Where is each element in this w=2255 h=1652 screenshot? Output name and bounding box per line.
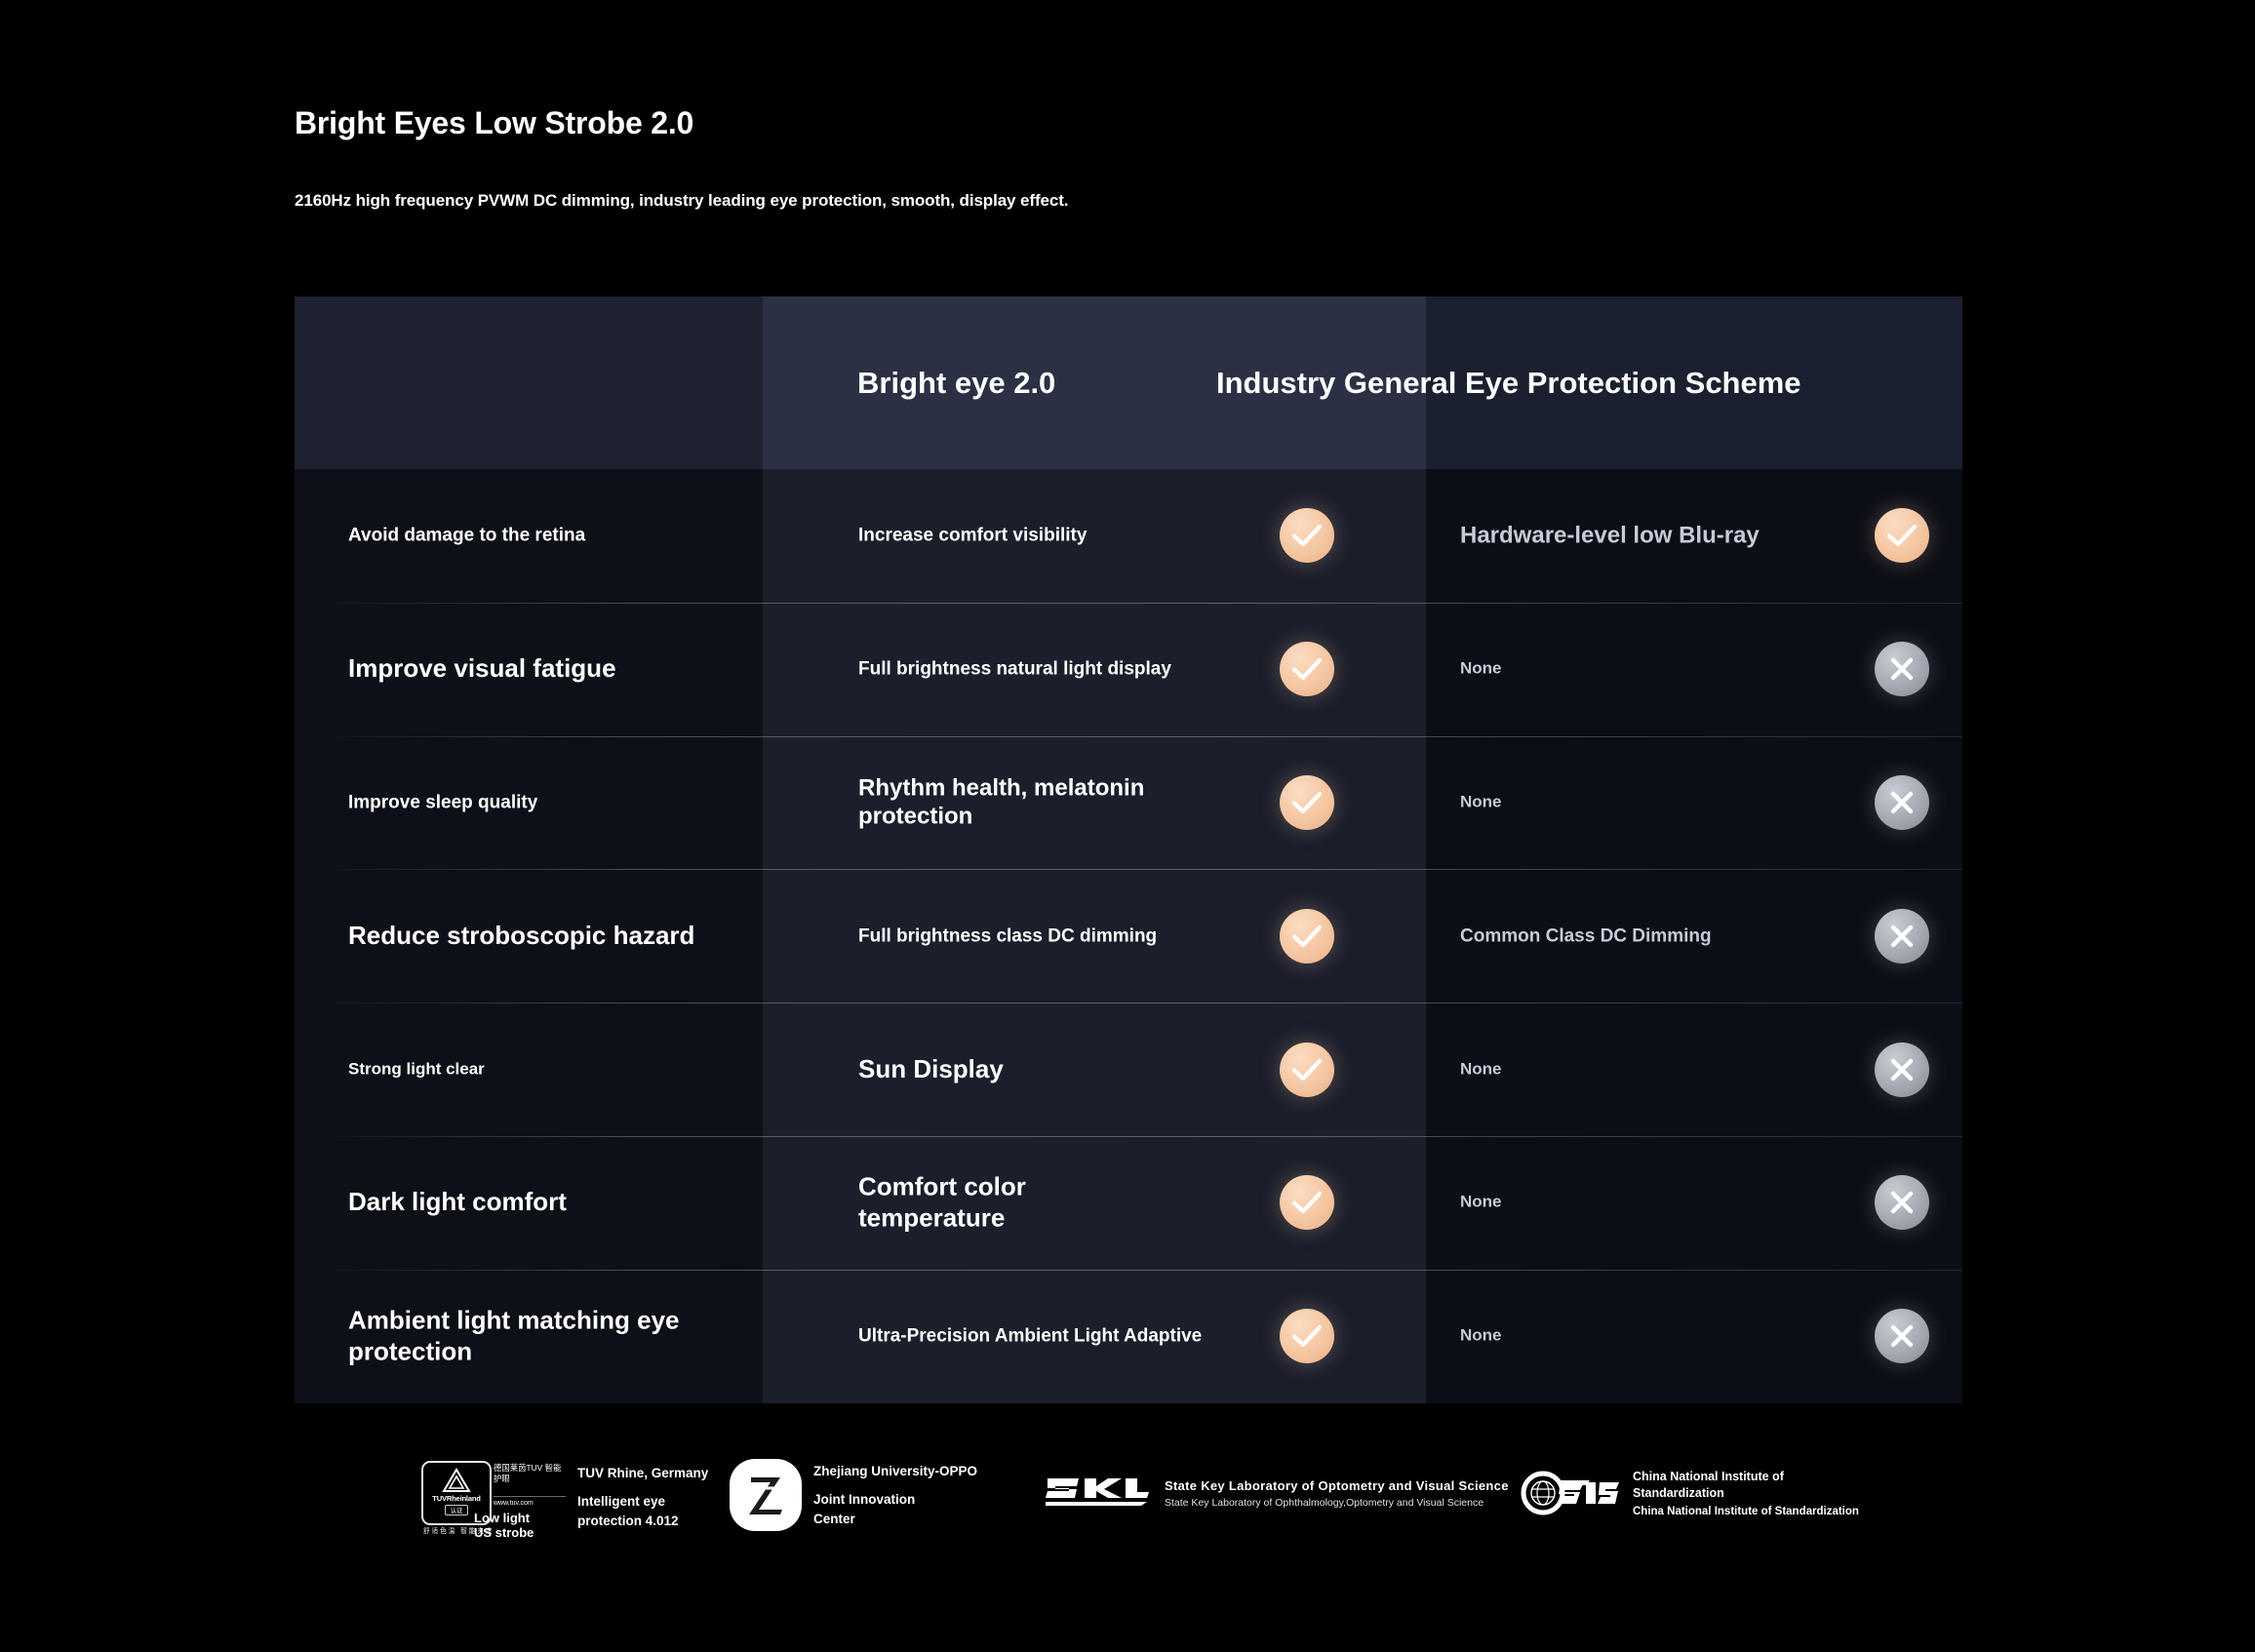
certification-tuv: TUVRheinland 认证 德国莱茵TUV 智能护眼 www.tuv.com… — [421, 1457, 708, 1537]
feature-label: Improve visual fatigue — [348, 653, 738, 685]
cnis-caption-line1: China National Institute of — [1633, 1469, 1859, 1485]
cnis-caption: China National Institute of Standardizat… — [1633, 1469, 1859, 1517]
skl-caption: State Key Laboratory of Optometry and Vi… — [1165, 1478, 1509, 1509]
cross-icon — [1875, 1042, 1929, 1097]
tuv-overlay-line1: Low light — [474, 1512, 534, 1526]
zhejiang-caption-line1: Zhejiang University-OPPO — [813, 1462, 977, 1481]
certification-cnis: China National Institute of Standardizat… — [1520, 1469, 1859, 1517]
ours-value: Increase comfort visibility — [858, 525, 1229, 547]
tuv-cert-cn-label: 认证 — [445, 1505, 469, 1515]
table-body: Avoid damage to the retina Increase comf… — [295, 469, 1962, 1403]
zhejiang-caption-line3: Center — [813, 1510, 977, 1529]
other-value: Common Class DC Dimming — [1460, 924, 1821, 947]
tuv-triangle-icon — [442, 1468, 471, 1493]
cnis-globe-icon — [1520, 1471, 1621, 1515]
other-value: None — [1460, 1059, 1821, 1080]
tuv-side-text: 德国莱茵TUV 智能护眼 www.tuv.com — [494, 1463, 566, 1507]
comparison-table: Bright eye 2.0 Industry General Eye Prot… — [295, 296, 1962, 1403]
ours-value: Rhythm health, melatonin protection — [858, 774, 1229, 832]
other-value: None — [1460, 793, 1821, 813]
ours-value: Full brightness natural light display — [858, 658, 1229, 681]
tuv-cn-text: 德国莱茵TUV 智能护眼 — [494, 1463, 566, 1485]
cross-icon — [1875, 909, 1929, 964]
feature-label: Dark light comfort — [348, 1188, 738, 1219]
cross-icon — [1875, 1175, 1929, 1230]
cnis-caption-line2: Standardization — [1633, 1485, 1859, 1502]
cnis-caption-line3: China National Institute of Standardizat… — [1633, 1506, 1859, 1517]
other-value: None — [1460, 659, 1821, 680]
ours-value: Sun Display — [858, 1054, 1229, 1085]
certification-zhejiang: Zhejiang University-OPPO Joint Innovatio… — [730, 1459, 977, 1531]
column-header-ours: Bright eye 2.0 — [857, 366, 1055, 401]
certification-skl: State Key Laboratory of Optometry and Vi… — [1044, 1473, 1509, 1514]
zhejiang-caption-line2: Joint Innovation — [813, 1490, 977, 1510]
cross-icon — [1875, 775, 1929, 830]
skl-caption-line2: State Key Laboratory of Ophthalmology,Op… — [1165, 1497, 1509, 1509]
check-icon — [1875, 508, 1929, 563]
check-icon — [1280, 1175, 1334, 1230]
table-row: Avoid damage to the retina Increase comf… — [295, 469, 1962, 603]
check-icon — [1280, 909, 1334, 964]
check-icon — [1280, 1309, 1334, 1363]
check-icon — [1280, 508, 1334, 563]
tuv-overlay-line2: US strobe — [474, 1526, 534, 1541]
tuv-rheinland-icon: TUVRheinland 认证 德国莱茵TUV 智能护眼 www.tuv.com… — [421, 1457, 566, 1537]
table-row: Reduce stroboscopic hazard Full brightne… — [295, 869, 1962, 1003]
tuv-url: www.tuv.com — [494, 1496, 566, 1507]
table-row: Dark light comfort Comfort color tempera… — [295, 1136, 1962, 1270]
table-header-row: Bright eye 2.0 Industry General Eye Prot… — [295, 296, 1962, 469]
zhejiang-university-icon — [730, 1459, 802, 1531]
table-row: Improve visual fatigue Full brightness n… — [295, 603, 1962, 736]
ours-value: Ultra-Precision Ambient Light Adaptive — [858, 1325, 1229, 1348]
cross-icon — [1875, 1309, 1929, 1363]
tuv-caption-line2: Intelligent eye — [577, 1492, 708, 1512]
check-icon — [1280, 775, 1334, 830]
feature-label: Improve sleep quality — [348, 791, 738, 813]
feature-label: Avoid damage to the retina — [348, 525, 738, 547]
skl-caption-line1: State Key Laboratory of Optometry and Vi… — [1165, 1478, 1509, 1493]
page-title: Bright Eyes Low Strobe 2.0 — [295, 105, 693, 141]
feature-label: Ambient light matching eye protection — [348, 1305, 699, 1366]
certification-strip: TUVRheinland 认证 德国莱茵TUV 智能护眼 www.tuv.com… — [0, 1449, 2255, 1576]
table-row: Ambient light matching eye protection Ul… — [295, 1270, 1962, 1403]
other-value: None — [1460, 1326, 1821, 1347]
tuv-caption-line1: TUV Rhine, Germany — [577, 1464, 708, 1483]
tuv-caption: TUV Rhine, Germany Intelligent eye prote… — [577, 1464, 708, 1531]
feature-label: Strong light clear — [348, 1059, 738, 1080]
check-icon — [1280, 1042, 1334, 1097]
table-row: Improve sleep quality Rhythm health, mel… — [295, 736, 1962, 870]
tuv-wordmark: TUVRheinland — [432, 1494, 481, 1503]
other-value: None — [1460, 1193, 1821, 1213]
comparison-infographic: Bright Eyes Low Strobe 2.0 2160Hz high f… — [0, 0, 2255, 1652]
feature-label: Reduce stroboscopic hazard — [348, 921, 738, 952]
page-subtitle: 2160Hz high frequency PVWM DC dimming, i… — [295, 191, 1068, 211]
check-icon — [1280, 642, 1334, 696]
table-row: Strong light clear Sun Display None — [295, 1003, 1962, 1136]
column-header-other: Industry General Eye Protection Scheme — [1216, 366, 1801, 401]
skl-logo-icon — [1044, 1473, 1151, 1514]
ours-value: Comfort color temperature — [858, 1172, 1112, 1234]
tuv-overlay-text: Low light US strobe — [474, 1512, 534, 1541]
cross-icon — [1875, 642, 1929, 696]
zhejiang-caption: Zhejiang University-OPPO Joint Innovatio… — [813, 1462, 977, 1529]
ours-value: Full brightness class DC dimming — [858, 924, 1229, 947]
tuv-caption-line3: protection 4.012 — [577, 1512, 708, 1531]
other-value: Hardware-level low Blu-ray — [1460, 522, 1821, 550]
